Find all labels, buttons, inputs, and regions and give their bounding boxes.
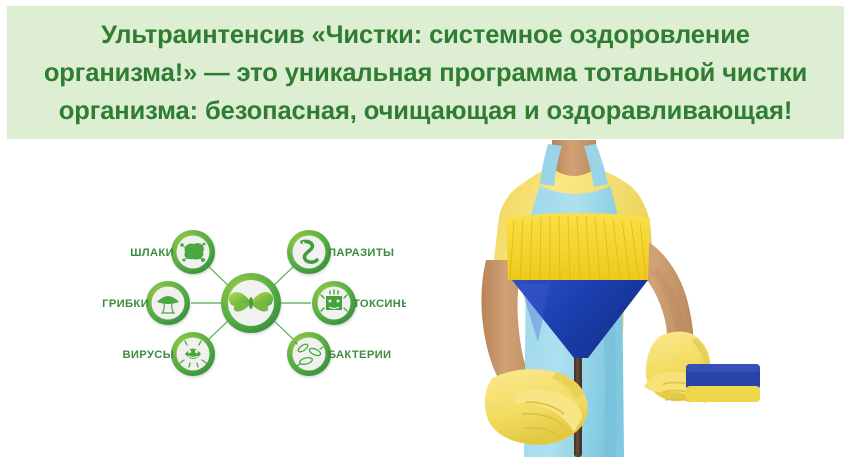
sponge [686,364,760,402]
broom-bristles [506,213,650,280]
cleaning-woman-photo [420,140,851,457]
infographic-center-node [221,273,281,333]
infographic-node-virusy: ВИРУСЫ [122,332,215,376]
infographic-node-parazity: ПАРАЗИТЫ [287,230,394,274]
infographic-node-toksiny: ТОКСИНЫ [312,281,406,325]
content-area: ШЛАКИ ПАРАЗИТЫ [0,140,851,457]
infographic-label-gribki: ГРИБКИ [102,298,149,310]
left-glove [485,369,588,445]
infographic-node-gribki: ГРИБКИ [102,281,190,325]
page-title: Ультраинтенсив «Чистки: системное оздоро… [26,16,826,130]
infographic-label-bakterii: БАКТЕРИИ [328,349,391,361]
infographic-svg: ШЛАКИ ПАРАЗИТЫ [96,208,406,398]
infographic-label-parazity: ПАРАЗИТЫ [328,247,394,259]
infographic-label-shlaki: ШЛАКИ [130,247,174,259]
cleaning-woman-illustration [420,140,851,457]
cleansing-infographic: ШЛАКИ ПАРАЗИТЫ [96,208,406,398]
promo-banner-page: Ультраинтенсив «Чистки: системное оздоро… [0,0,851,457]
infographic-node-bakterii: БАКТЕРИИ [287,332,391,376]
infographic-label-toksiny: ТОКСИНЫ [353,298,406,310]
infographic-node-shlaki: ШЛАКИ [130,230,215,274]
infographic-label-virusy: ВИРУСЫ [122,349,174,361]
header-banner: Ультраинтенсив «Чистки: системное оздоро… [7,6,844,139]
